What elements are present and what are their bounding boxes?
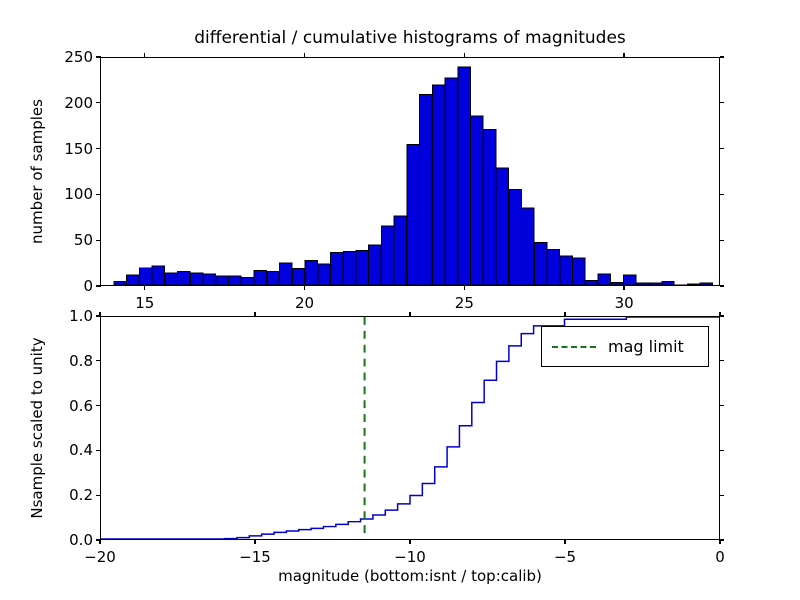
histogram-bar	[700, 283, 712, 285]
tick-mark	[564, 540, 565, 545]
histogram-bar	[509, 190, 521, 285]
histogram-bar	[190, 273, 202, 285]
histogram-bar	[407, 144, 419, 285]
tick-mark	[720, 240, 725, 241]
y-tick-label: 0.4	[52, 441, 93, 459]
tick-mark	[409, 540, 410, 545]
y-tick-label: 50	[52, 231, 93, 249]
tick-mark	[254, 312, 255, 317]
y-tick-label: 200	[52, 94, 93, 112]
histogram-bar	[573, 258, 585, 285]
histogram-bar	[127, 275, 139, 285]
x-tick-label: −10	[394, 548, 426, 566]
x-tick-label: 15	[135, 294, 154, 312]
y-tick-label: 150	[52, 140, 93, 158]
tick-mark	[144, 286, 145, 291]
mag-limit-line-icon	[552, 346, 596, 348]
histogram-bar	[624, 275, 636, 285]
histogram-bar	[356, 250, 368, 285]
tick-mark	[720, 56, 725, 57]
histogram-bar	[496, 168, 508, 285]
x-tick-label: 20	[295, 294, 314, 312]
histogram-bar	[687, 284, 699, 285]
histogram-bar	[445, 78, 457, 285]
histogram-bar	[394, 216, 406, 285]
y-tick-label: 1.0	[52, 307, 93, 325]
tick-mark	[720, 405, 725, 406]
histogram-bar	[534, 242, 546, 285]
tick-mark	[96, 495, 101, 496]
x-tick-label: −20	[84, 548, 116, 566]
histogram-bar	[636, 283, 648, 285]
y-tick-label: 100	[52, 185, 93, 203]
tick-mark	[99, 540, 100, 545]
histogram-bar	[254, 270, 266, 285]
histogram-bar	[139, 268, 151, 285]
top-histogram-svg	[101, 58, 719, 285]
x-tick-label: 25	[455, 294, 474, 312]
tick-mark	[720, 450, 725, 451]
y-tick-label: 0.2	[52, 486, 93, 504]
histogram-bar	[203, 274, 215, 285]
tick-mark	[99, 312, 100, 317]
x-tick-label: −5	[554, 548, 576, 566]
tick-mark	[623, 53, 624, 58]
tick-mark	[720, 148, 725, 149]
tick-mark	[719, 540, 720, 545]
histogram-bar	[292, 269, 304, 285]
bottom-axis-y-label: Nsample scaled to unity	[28, 316, 46, 540]
histogram-bar	[432, 85, 444, 285]
histogram-bar	[560, 256, 572, 285]
histogram-bar	[585, 280, 597, 285]
tick-mark	[720, 495, 725, 496]
histogram-bar	[649, 283, 661, 285]
histogram-bar	[381, 226, 393, 285]
tick-mark	[96, 56, 101, 57]
tick-mark	[96, 102, 101, 103]
y-tick-label: 0	[52, 277, 93, 295]
histogram-bar	[305, 260, 317, 285]
histogram-bar	[369, 245, 381, 285]
histogram-bar	[280, 263, 292, 285]
tick-mark	[720, 194, 725, 195]
x-tick-label: −15	[239, 548, 271, 566]
histogram-bar	[522, 208, 534, 285]
tick-mark	[96, 285, 101, 286]
tick-mark	[96, 450, 101, 451]
tick-mark	[304, 286, 305, 291]
histogram-bar	[331, 252, 343, 285]
histogram-bar	[611, 282, 623, 285]
tick-mark	[254, 540, 255, 545]
y-tick-label: 0.6	[52, 397, 93, 415]
tick-mark	[720, 102, 725, 103]
histogram-bar	[152, 266, 164, 285]
histogram-bar	[216, 276, 228, 285]
histogram-bar	[114, 281, 126, 285]
histogram-bar	[598, 274, 610, 285]
y-tick-label: 0.8	[52, 352, 93, 370]
tick-mark	[464, 53, 465, 58]
tick-mark	[409, 312, 410, 317]
histogram-bar	[343, 251, 355, 285]
y-tick-label: 250	[52, 48, 93, 66]
tick-mark	[623, 286, 624, 291]
page-title: differential / cumulative histograms of …	[100, 28, 720, 48]
tick-mark	[720, 360, 725, 361]
legend: mag limit	[541, 326, 709, 367]
histogram-bar	[241, 278, 253, 285]
bottom-axis-x-label: magnitude (bottom:isnt / top:calib)	[100, 567, 720, 585]
tick-mark	[96, 148, 101, 149]
histogram-bar	[318, 264, 330, 285]
histogram-bar	[662, 281, 674, 285]
histogram-bar	[471, 116, 483, 285]
tick-mark	[719, 312, 720, 317]
histogram-bar	[547, 250, 559, 285]
tick-mark	[96, 360, 101, 361]
tick-mark	[304, 53, 305, 58]
tick-mark	[96, 405, 101, 406]
tick-mark	[720, 285, 725, 286]
top-axis-y-label: number of samples	[28, 57, 46, 286]
top-histogram-plot	[100, 57, 720, 286]
histogram-bar	[178, 271, 190, 285]
histogram-bar	[229, 276, 241, 285]
tick-mark	[96, 194, 101, 195]
legend-item-label: mag limit	[608, 337, 684, 356]
histogram-bar	[483, 130, 495, 285]
tick-mark	[144, 53, 145, 58]
tick-mark	[96, 240, 101, 241]
x-tick-label: 0	[715, 548, 725, 566]
histogram-bar	[165, 273, 177, 285]
histogram-bar	[420, 94, 432, 285]
figure-canvas: differential / cumulative histograms of …	[0, 0, 800, 600]
histogram-bar	[267, 271, 279, 285]
x-tick-label: 30	[615, 294, 634, 312]
y-tick-label: 0.0	[52, 531, 93, 549]
histogram-bar	[458, 67, 470, 285]
tick-mark	[564, 312, 565, 317]
tick-mark	[464, 286, 465, 291]
